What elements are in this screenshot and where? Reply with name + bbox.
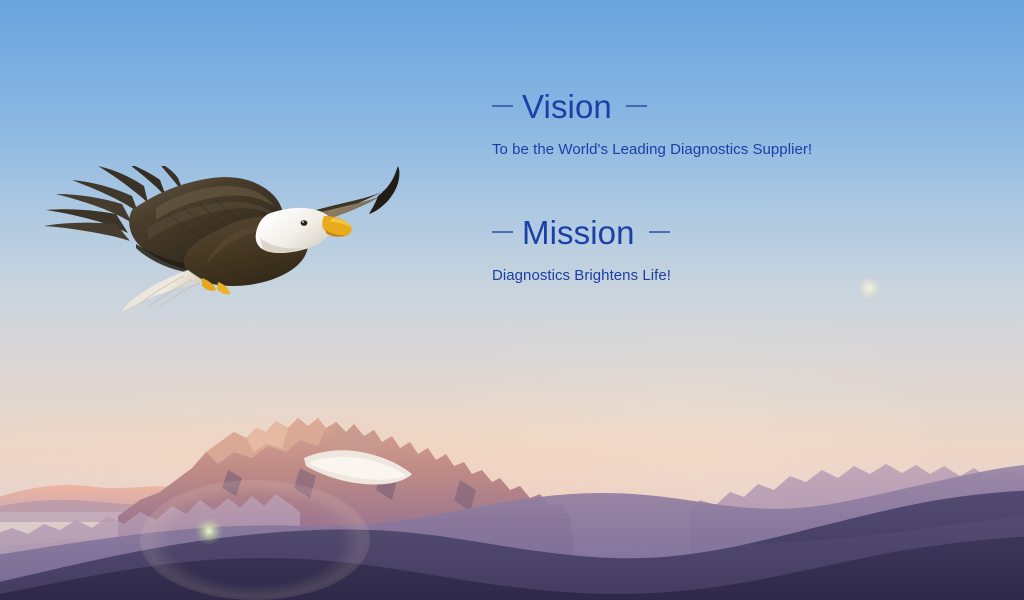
vision-mission-banner: Vision To be the World's Leading Diagnos…: [0, 0, 1024, 600]
mission-heading-label: Mission: [522, 216, 635, 249]
dash-left-icon: [492, 105, 513, 107]
mission-heading: Mission: [492, 210, 962, 254]
mission-section: Mission Diagnostics Brightens Life!: [492, 210, 962, 286]
vision-subtitle: To be the World's Leading Diagnostics Su…: [492, 140, 962, 160]
vision-heading-label: Vision: [522, 90, 612, 123]
mission-subtitle: Diagnostics Brightens Life!: [492, 266, 962, 286]
dash-left-icon: [492, 231, 513, 233]
vision-mission-text: Vision To be the World's Leading Diagnos…: [492, 84, 962, 287]
dash-right-icon: [626, 105, 647, 107]
dash-right-icon: [649, 231, 670, 233]
vision-section: Vision To be the World's Leading Diagnos…: [492, 84, 962, 160]
eagle-tail: [122, 270, 206, 312]
vision-heading: Vision: [492, 84, 962, 128]
bald-eagle-icon: [36, 166, 402, 314]
